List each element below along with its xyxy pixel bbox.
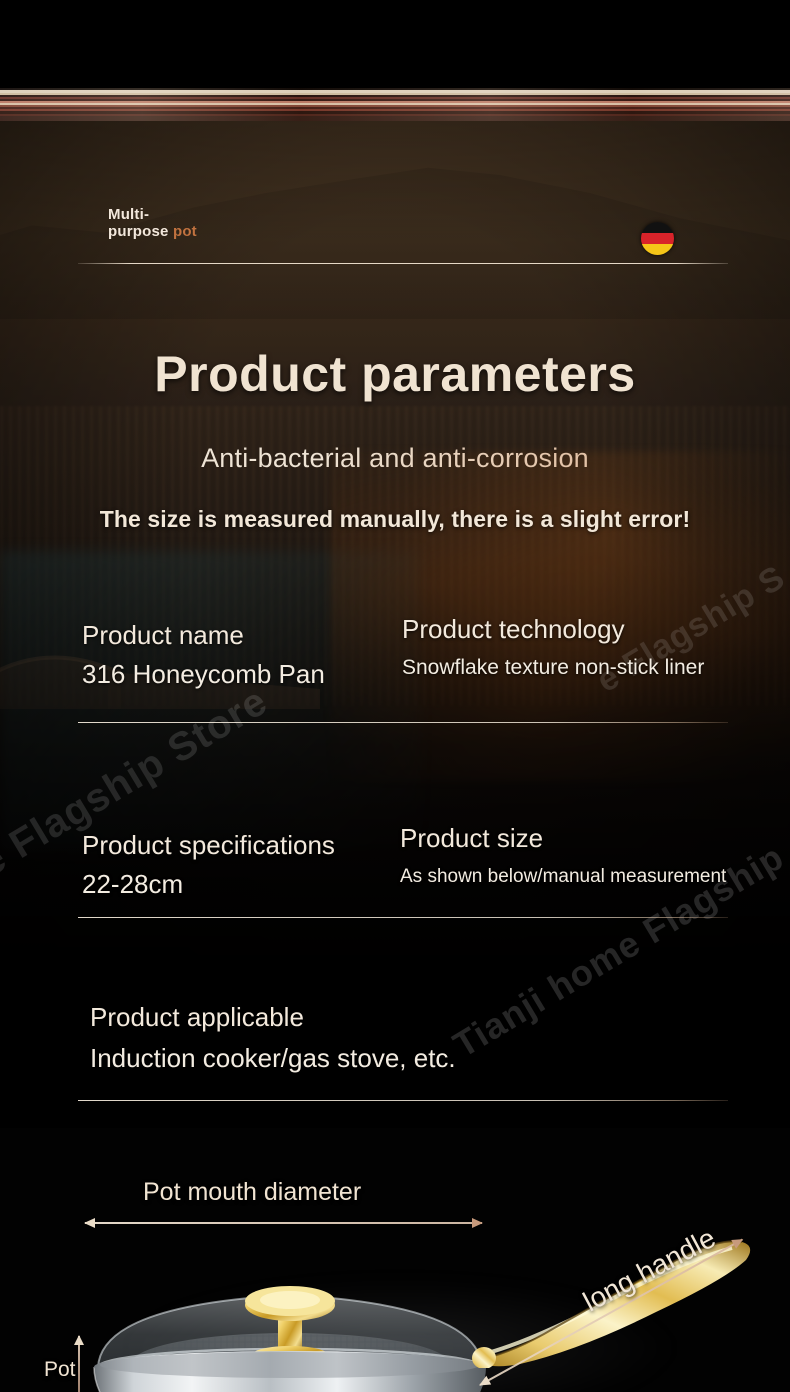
pot-mouth-diameter-arrow <box>85 1222 482 1224</box>
brand-label: Multi- purpose pot <box>108 207 197 241</box>
spec-key: Product technology <box>402 614 704 645</box>
pot-height-label: Pot <box>44 1358 76 1382</box>
spec-key: Product size <box>400 823 726 854</box>
spec-value: 22-28cm <box>82 869 335 900</box>
spec-key: Product specifications <box>82 830 335 861</box>
top-black-band <box>0 0 790 88</box>
brand-line-2-accent: pot <box>173 223 197 240</box>
product-parameters-page: e Flagship Store Tianji home Flagship e … <box>0 0 790 1392</box>
german-flag-red-stripe <box>641 233 674 244</box>
spec-value: 316 Honeycomb Pan <box>82 659 325 690</box>
header-divider <box>78 263 728 264</box>
brand-line-2: purpose pot <box>108 224 197 241</box>
brand-line-1: Multi- <box>108 207 197 224</box>
spec-key: Product name <box>82 620 325 651</box>
pot-illustration <box>80 1255 500 1392</box>
measurement-notice: The size is measured manually, there is … <box>0 506 790 533</box>
decorative-stripe-band <box>0 88 790 121</box>
spec-row-divider <box>78 917 728 918</box>
spec-cell-product-applicable: Product applicable Induction cooker/gas … <box>90 1002 456 1074</box>
spec-row-divider <box>78 1100 728 1101</box>
spec-cell-product-size: Product size As shown below/manual measu… <box>400 823 726 888</box>
spec-cell-product-technology: Product technology Snowflake texture non… <box>402 614 704 680</box>
brand-line-2-white: purpose <box>108 223 173 240</box>
pot-height-arrow <box>78 1336 80 1392</box>
spec-row-divider <box>78 722 728 723</box>
page-subtitle: Anti-bacterial and anti-corrosion <box>0 443 790 474</box>
spec-cell-product-specifications: Product specifications 22-28cm <box>82 830 335 900</box>
spec-value: Induction cooker/gas stove, etc. <box>90 1043 456 1074</box>
pot-mouth-diameter-label: Pot mouth diameter <box>143 1178 361 1207</box>
spec-cell-product-name: Product name 316 Honeycomb Pan <box>82 620 325 690</box>
page-title: Product parameters <box>0 345 790 403</box>
spec-value: Snowflake texture non-stick liner <box>402 656 704 680</box>
spec-value: As shown below/manual measurement <box>400 866 726 888</box>
german-flag-icon <box>641 222 674 255</box>
spec-key: Product applicable <box>90 1002 456 1033</box>
